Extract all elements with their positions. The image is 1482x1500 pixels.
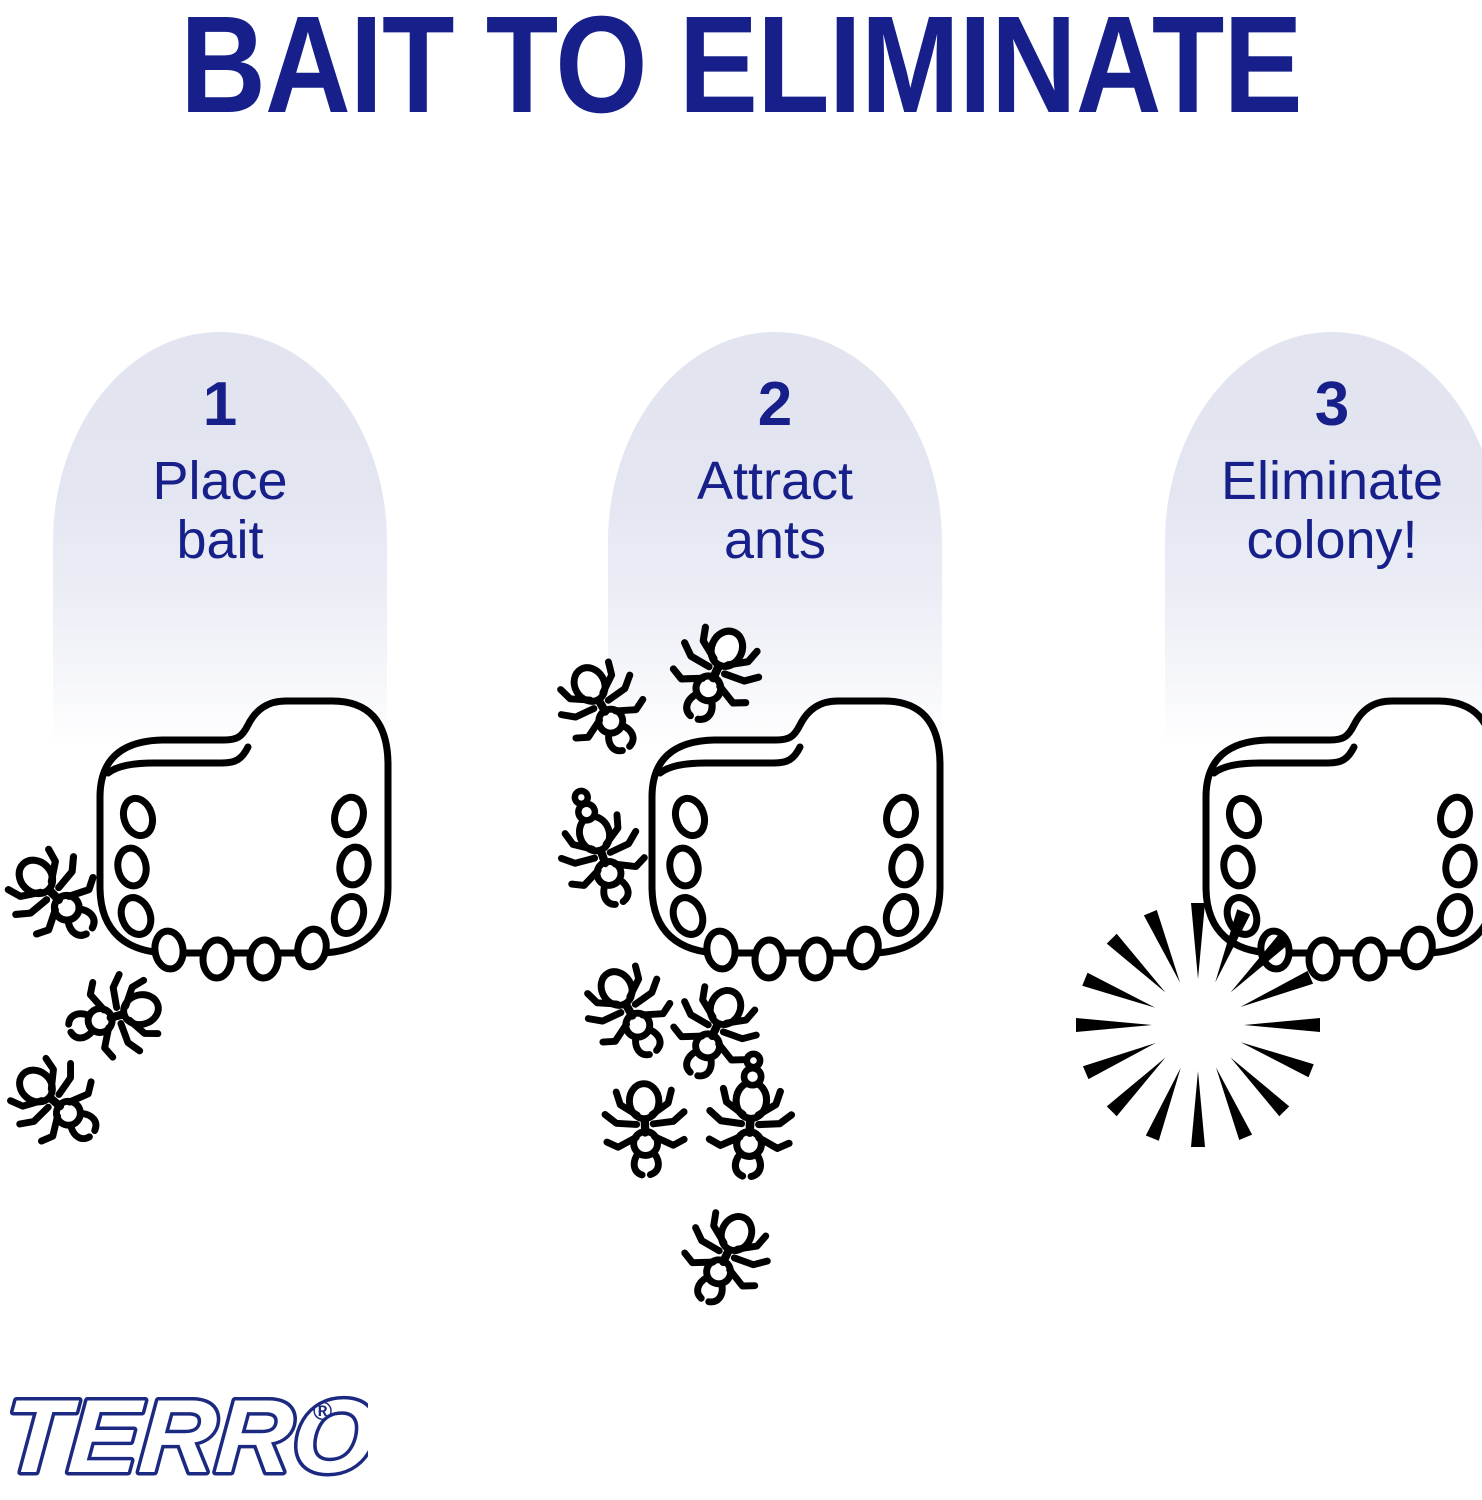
ant-icon (659, 975, 769, 1091)
ant-icon (574, 954, 688, 1072)
step-1-label-line2: bait (53, 511, 387, 570)
ant-icon (670, 1201, 780, 1317)
burst-icon (1076, 903, 1320, 1147)
step-1-label: Place bait (53, 452, 387, 570)
infographic-canvas: BAIT TO ELIMINATE 1 Place bait 2 Attract… (0, 0, 1482, 1500)
ant-icon (604, 1082, 686, 1176)
step-2-label-line2: ants (608, 511, 942, 570)
ant-icon (60, 967, 168, 1067)
step-3-label-line2: colony! (1165, 511, 1482, 570)
ant-icon (0, 835, 118, 959)
ant-group-1 (0, 835, 168, 1163)
step-2-label-line1: Attract (608, 452, 942, 511)
step-panel-3: 3 Eliminate colony! (1165, 332, 1482, 747)
ant-icon (707, 1052, 795, 1179)
step-1-label-line1: Place (53, 452, 387, 511)
step-3-artwork (1076, 701, 1482, 1147)
registered-mark: ® (313, 1396, 332, 1427)
step-3-number: 3 (1165, 374, 1482, 436)
step-2-number: 2 (608, 374, 942, 436)
step-panel-2: 2 Attract ants (608, 332, 942, 747)
step-3-label-line1: Eliminate (1165, 452, 1482, 511)
ant-icon (542, 778, 657, 917)
ant-icon (0, 1044, 118, 1163)
step-2-label: Attract ants (608, 452, 942, 570)
step-1-number: 1 (53, 374, 387, 436)
terro-logo: TERRO ® (8, 1382, 368, 1492)
page-title: BAIT TO ELIMINATE (104, 0, 1379, 140)
step-3-label: Eliminate colony! (1165, 452, 1482, 570)
step-1-artwork (0, 701, 388, 1164)
step-panel-1: 1 Place bait (53, 332, 387, 747)
artwork-layer (0, 0, 1482, 1500)
